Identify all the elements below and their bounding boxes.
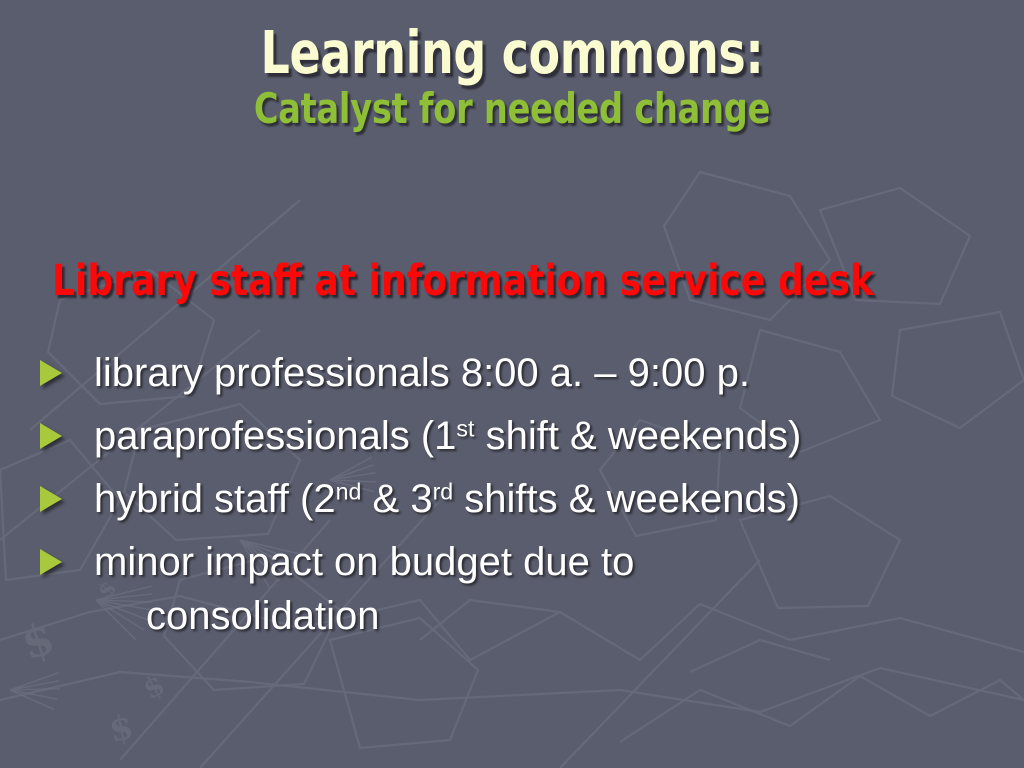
triangle-bullet-icon — [40, 409, 74, 449]
triangle-bullet-icon — [40, 535, 74, 575]
list-item: minor impact on budget due to consolidat… — [40, 535, 990, 643]
list-item-text-main: paraprofessionals (1 — [94, 414, 456, 458]
presentation-slide: $ $ $ $ Learning commons: Catalyst for n… — [0, 0, 1024, 768]
section-heading: Library staff at information service des… — [52, 258, 874, 304]
list-item-text-mid: & 3 — [361, 477, 432, 521]
list-item-text: minor impact on budget due to consolidat… — [74, 535, 990, 643]
list-item: hybrid staff (2nd & 3rd shifts & weekend… — [40, 472, 990, 526]
list-item-text-main: minor impact on budget due to — [94, 540, 634, 584]
list-item: paraprofessionals (1st shift & weekends) — [40, 409, 990, 463]
triangle-bullet-icon — [40, 346, 74, 386]
list-item-text: library professionals 8:00 a. – 9:00 p. — [74, 346, 990, 400]
list-item-text: paraprofessionals (1st shift & weekends) — [74, 409, 990, 463]
list-item-text-continuation: consolidation — [94, 589, 990, 643]
slide-title: Learning commons: — [113, 22, 912, 84]
list-item-text-tail: shift & weekends) — [474, 414, 801, 458]
slide-subtitle: Catalyst for needed change — [102, 84, 921, 132]
ordinal-suffix: st — [456, 415, 474, 441]
triangle-bullet-icon — [40, 472, 74, 512]
list-item-text: hybrid staff (2nd & 3rd shifts & weekend… — [74, 472, 990, 526]
ordinal-suffix-2: rd — [433, 478, 454, 504]
list-item-text-main: hybrid staff (2 — [94, 477, 336, 521]
svg-text:$: $ — [106, 707, 137, 751]
bullet-list: library professionals 8:00 a. – 9:00 p. … — [40, 346, 990, 652]
svg-text:$: $ — [137, 668, 170, 706]
ordinal-suffix: nd — [336, 478, 362, 504]
list-item-text-tail: shifts & weekends) — [453, 477, 800, 521]
list-item: library professionals 8:00 a. – 9:00 p. — [40, 346, 990, 400]
list-item-text-main: library professionals 8:00 a. – 9:00 p. — [94, 351, 750, 395]
slide-title-block: Learning commons: Catalyst for needed ch… — [0, 22, 1024, 132]
